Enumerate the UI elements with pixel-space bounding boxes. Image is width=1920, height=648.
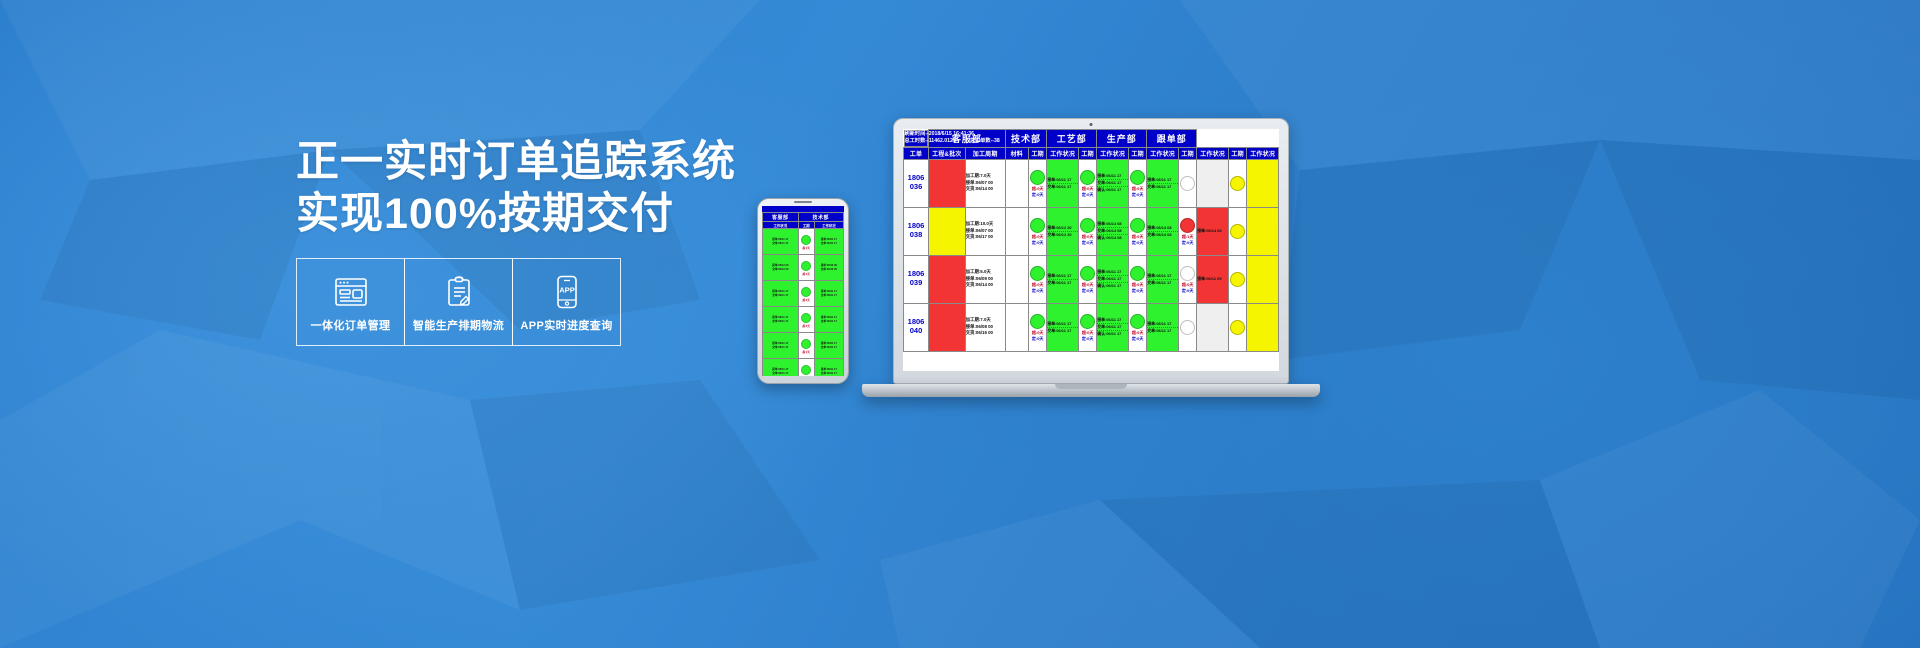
period-line-0: 加工期:5.0天	[966, 269, 1005, 276]
phone-table-body: 接单:06/11 17交单:06/11 17超:0天接单:06/11 17交单:…	[763, 229, 844, 377]
status-event-1: 交单:06/11 17	[1047, 184, 1078, 190]
dept-0-duration-cell[interactable]: 超:0天定:0天	[1028, 303, 1046, 351]
processing-period: 加工期:10.0天接单:06/07 00交货:06/17 00	[965, 207, 1005, 255]
dept-2-duration-cell[interactable]: 超:0天定:0天	[1128, 159, 1146, 207]
phone-table-row[interactable]: 接单:06/11 17交单:06/11 17超:0天接单:06/11 17交单:…	[763, 333, 844, 359]
status-dot-icon	[1180, 176, 1195, 191]
phone-status-event-1: 交单:06/11 17	[763, 346, 798, 350]
work-order-suffix: 038	[904, 231, 928, 240]
status-event-1: 交单:06/11 17	[1097, 276, 1128, 283]
status-dot-icon	[1030, 314, 1045, 329]
dept-header-process: 工艺部	[1047, 130, 1097, 148]
hero-copy: 正一实时订单追踪系统 实现100%按期交付	[296, 136, 756, 241]
dashboard-table: 刷新时间--2018/6/15 16:41:36 总工时数--11462.012…	[903, 129, 1279, 352]
order-tracking-dashboard: 刷新时间--2018/6/15 16:41:36 总工时数--11462.012…	[903, 129, 1279, 371]
dept-4-work-status-cell[interactable]	[1247, 255, 1279, 303]
phone-work-status-cell[interactable]: 接单:06/11 17交单:06/11 17	[763, 281, 799, 307]
feature-label-production-logistics: 智能生产排期物流	[413, 317, 504, 333]
dept-3-duration-cell[interactable]: 超:1天定:0天	[1178, 207, 1196, 255]
phone-status-event2-1: 交单:06/12 20	[815, 268, 843, 272]
material-swatch	[1005, 255, 1028, 303]
status-dot-icon	[1130, 266, 1145, 281]
dept-header-merchandising: 跟单部	[1147, 130, 1197, 148]
status-event-0: 接单:06/14 08	[1097, 221, 1128, 228]
dept-0-work-status-cell[interactable]: 接单:06/11 17交单:06/11 17	[1047, 255, 1079, 303]
col-header-d3-work-status: 工作状况	[1197, 147, 1229, 159]
status-event-0: 接单:06/12 20	[1047, 225, 1078, 232]
dept-2-work-status-cell[interactable]: 接单:06/11 17交单:06/11 17	[1147, 255, 1179, 303]
dashboard-table-body: 1806036加工期:7.0天接单:06/07 00交货:06/14 00超:0…	[904, 159, 1279, 351]
phone-duration-cell[interactable]: 超:0天	[798, 333, 814, 359]
phone-status-event-1: 交单:06/11 17	[763, 372, 798, 376]
dept-4-work-status-cell[interactable]	[1247, 303, 1279, 351]
phone-col-duration: 工期	[798, 222, 814, 229]
status-dot-icon	[1180, 266, 1195, 281]
phone-status-dot-icon	[801, 235, 811, 245]
period-line-0: 加工期:7.0天	[966, 317, 1005, 324]
phone-work-status-cell[interactable]: 接单:06/11 17交单:06/11 17	[763, 333, 799, 359]
processing-period: 加工期:7.0天接单:06/07 00交货:06/14 00	[965, 159, 1005, 207]
dept-4-work-status-cell[interactable]	[1247, 207, 1279, 255]
phone-duration-cell[interactable]: 超:0天	[798, 229, 814, 255]
material-swatch	[1005, 303, 1028, 351]
phone-table-row[interactable]: 接单:06/11 17交单:06/11 17超:0天接单:06/11 17交单:…	[763, 307, 844, 333]
dept-2-duration-cell[interactable]: 超:0天定:0天	[1128, 255, 1146, 303]
work-order-suffix: 039	[904, 279, 928, 288]
dept-0-duration-cell[interactable]: 超:0天定:0天	[1028, 159, 1046, 207]
dept-1-work-status-cell[interactable]: 接单:06/11 17交单:06/11 17确认:06/11 17	[1097, 255, 1129, 303]
status-event-0: 接单:06/12 09	[1197, 276, 1228, 282]
table-row[interactable]: 1806038加工期:10.0天接单:06/07 00交货:06/17 00超:…	[904, 207, 1279, 255]
table-row[interactable]: 1806040加工期:7.0天接单:06/08 00交货:06/15 00超:0…	[904, 303, 1279, 351]
phone-dashboard: 客服部 技术部 工作状况 工期 工作状况 接单:06/11 17交单:06/11…	[762, 206, 844, 376]
dept-4-work-status-cell[interactable]	[1247, 159, 1279, 207]
phone-overdue-tag: 超:0天	[799, 272, 814, 276]
col-header-d2-duration: 工期	[1128, 147, 1146, 159]
laptop-camera	[1090, 123, 1093, 126]
laptop-trackpad-notch	[1055, 384, 1127, 389]
dept-2-work-status-cell[interactable]: 接单:06/11 17交单:06/11 17	[1147, 303, 1179, 351]
dept-3-work-status-cell[interactable]: 接单:06/14 08	[1197, 207, 1229, 255]
col-header-d3-duration: 工期	[1178, 147, 1196, 159]
dept-0-work-status-cell[interactable]: 接单:06/12 20交单:06/12 20	[1047, 207, 1079, 255]
phone-work-status-cell-2[interactable]: 接单:06/12 20交单:06/12 20	[814, 255, 843, 281]
period-line-0: 加工期:7.0天	[966, 173, 1005, 180]
dept-0-duration-cell[interactable]: 超:0天定:0天	[1028, 207, 1046, 255]
phone-dept-header-row: 客服部 技术部	[763, 213, 844, 222]
phone-screen: 客服部 技术部 工作状况 工期 工作状况 接单:06/11 17交单:06/11…	[762, 206, 844, 376]
status-event-2: 确认:06/14 08	[1097, 235, 1128, 241]
dept-1-duration-cell[interactable]: 超:0天定:0天	[1078, 303, 1096, 351]
phone-overdue-tag: 超:0天	[799, 376, 814, 377]
dept-1-work-status-cell[interactable]: 接单:06/11 17交单:06/11 17确认:06/11 17	[1097, 159, 1129, 207]
phone-work-status-cell-2[interactable]: 接单:06/11 17交单:06/11 17	[814, 359, 843, 377]
phone-col-work-status-1: 工作状况	[763, 222, 799, 229]
phone-table-row[interactable]: 接单:06/12 20交单:06/12 20超:0天接单:06/12 20交单:…	[763, 255, 844, 281]
phone-status-event2-1: 交单:06/11 17	[815, 372, 843, 376]
feature-box-app-progress[interactable]: APP APP实时进度查询	[512, 258, 621, 346]
status-event-1: 交单:06/14 08	[1147, 232, 1178, 238]
status-event-2: 确认:06/11 17	[1097, 283, 1128, 289]
phone-status-event-1: 交单:06/11 17	[763, 294, 798, 298]
total-hours-label: 总工时数--11462.0125	[905, 138, 956, 146]
dept-3-duration-cell[interactable]: 超:0天定:0天	[1178, 255, 1196, 303]
phone-work-status-cell[interactable]: 接单:06/12 20交单:06/12 20	[763, 255, 799, 281]
phone-work-status-cell-2[interactable]: 接单:06/11 17交单:06/11 17	[814, 307, 843, 333]
scheduled-tag: 定:0天	[1029, 240, 1046, 246]
phone-status-event-1: 交单:06/12 20	[763, 268, 798, 272]
dept-4-duration-cell[interactable]	[1228, 255, 1246, 303]
status-dot-icon	[1080, 266, 1095, 281]
phone-work-status-cell[interactable]: 接单:06/11 17交单:06/11 17	[763, 359, 799, 377]
phone-table-row[interactable]: 接单:06/11 17交单:06/11 17超:0天接单:06/11 17交单:…	[763, 229, 844, 255]
processing-period: 加工期:7.0天接单:06/08 00交货:06/15 00	[965, 303, 1005, 351]
status-dot-icon	[1180, 320, 1195, 335]
feature-box-order-management[interactable]: 一体化订单管理	[296, 258, 405, 346]
phone-status-event-1: 交单:06/11 17	[763, 242, 798, 246]
status-event-0: 接单:06/11 17	[1047, 177, 1078, 184]
status-event-2: 确认:06/11 17	[1097, 187, 1128, 193]
phone-status-event2-1: 交单:06/11 17	[815, 294, 843, 298]
dashboard-meta-block: 刷新时间--2018/6/15 16:41:36 总工时数--11462.012…	[904, 130, 929, 147]
phone-overdue-tag: 超:0天	[799, 298, 814, 302]
dept-4-duration-cell[interactable]	[1228, 303, 1246, 351]
work-order-suffix: 036	[904, 183, 928, 192]
headline-line-1: 正一实时订单追踪系统	[296, 136, 756, 188]
project-batch-swatch	[929, 255, 966, 303]
dept-4-duration-cell[interactable]	[1228, 159, 1246, 207]
material-swatch	[1005, 207, 1028, 255]
dept-3-work-status-cell[interactable]	[1197, 303, 1229, 351]
status-dot-icon	[1130, 170, 1145, 185]
smartphone-app-icon: APP	[554, 272, 580, 312]
phone-overdue-tag: 超:0天	[799, 350, 814, 354]
dept-1-work-status-cell[interactable]: 接单:06/11 17交单:06/11 17确认:06/11 17	[1097, 303, 1129, 351]
phone-mockup: 客服部 技术部 工作状况 工期 工作状况 接单:06/11 17交单:06/11…	[757, 198, 849, 384]
phone-table-row[interactable]: 接单:06/11 17交单:06/11 17超:0天接单:06/11 17交单:…	[763, 359, 844, 377]
status-event-1: 交单:06/11 17	[1097, 324, 1128, 331]
laptop-base	[862, 384, 1320, 397]
dept-3-duration-cell[interactable]	[1178, 159, 1196, 207]
scheduled-tag: 定:0天	[1029, 192, 1046, 198]
scheduled-tag: 定:0天	[1179, 240, 1196, 246]
status-event-1: 交单:06/11 17	[1047, 328, 1078, 334]
status-dot-icon	[1130, 314, 1145, 329]
dept-0-work-status-cell[interactable]: 接单:06/11 17交单:06/11 17	[1047, 159, 1079, 207]
phone-status-event2-1: 交单:06/11 17	[815, 320, 843, 324]
col-header-d4-work-status: 工作状况	[1247, 147, 1279, 159]
status-dot-icon	[1230, 320, 1245, 335]
status-event-1: 交单:06/14 08	[1097, 228, 1128, 235]
scheduled-tag: 定:0天	[1029, 288, 1046, 294]
status-event-1: 交单:06/12 20	[1047, 232, 1078, 238]
dept-header-production: 生产部	[1097, 130, 1147, 148]
feature-box-production-logistics[interactable]: 智能生产排期物流	[404, 258, 513, 346]
phone-duration-cell[interactable]: 超:0天	[798, 307, 814, 333]
project-batch-swatch	[929, 303, 966, 351]
dept-2-duration-cell[interactable]: 超:0天定:0天	[1128, 303, 1146, 351]
status-dot-icon	[1080, 218, 1095, 233]
period-line-2: 交货:06/14 00	[966, 186, 1005, 193]
phone-status-dot-icon	[801, 287, 811, 297]
status-dot-icon	[1030, 218, 1045, 233]
clipboard-pen-icon	[444, 272, 474, 312]
phone-overdue-tag: 超:0天	[799, 246, 814, 250]
browser-window-icon	[334, 272, 368, 312]
status-dot-icon	[1230, 224, 1245, 239]
phone-work-status-cell-2[interactable]: 接单:06/11 17交单:06/11 17	[814, 229, 843, 255]
status-dot-icon	[1080, 170, 1095, 185]
phone-status-event2-1: 交单:06/11 17	[815, 346, 843, 350]
scheduled-tag: 定:0天	[1129, 288, 1146, 294]
scheduled-tag: 定:0天	[1079, 192, 1096, 198]
dept-1-duration-cell[interactable]: 超:0天定:0天	[1078, 159, 1096, 207]
phone-status-event-1: 交单:06/11 17	[763, 320, 798, 324]
status-event-0: 接单:06/11 17	[1147, 273, 1178, 280]
work-order-number: 1806040	[904, 303, 929, 351]
col-header-d0-work-status: 工作状况	[1047, 147, 1079, 159]
project-batch-swatch	[929, 207, 966, 255]
project-batch-swatch	[929, 159, 966, 207]
phone-col-work-status-2: 工作状况	[814, 222, 843, 229]
status-event-0: 接单:06/11 17	[1147, 321, 1178, 328]
feature-label-app-progress: APP实时进度查询	[520, 317, 612, 333]
work-order-number: 1806039	[904, 255, 929, 303]
col-header-d2-work-status: 工作状况	[1147, 147, 1179, 159]
phone-status-dot-icon	[801, 313, 811, 323]
status-dot-icon	[1230, 176, 1245, 191]
status-event-0: 接单:06/11 17	[1147, 177, 1178, 184]
status-event-0: 接单:06/11 17	[1097, 317, 1128, 324]
status-event-2: 确认:06/11 17	[1097, 331, 1128, 337]
laptop-screen: 刷新时间--2018/6/15 16:41:36 总工时数--11462.012…	[903, 129, 1279, 371]
phone-table-row[interactable]: 接单:06/11 17交单:06/11 17超:0天接单:06/11 17交单:…	[763, 281, 844, 307]
col-header-d4-duration: 工期	[1228, 147, 1246, 159]
period-line-2: 交货:06/15 00	[966, 330, 1005, 337]
phone-status-dot-icon	[801, 261, 811, 271]
status-event-1: 交单:06/11 17	[1147, 328, 1178, 334]
work-order-number: 1806036	[904, 159, 929, 207]
scheduled-tag: 定:0天	[1029, 336, 1046, 342]
laptop-lid: 刷新时间--2018/6/15 16:41:36 总工时数--11462.012…	[893, 118, 1289, 384]
status-event-0: 接单:06/11 17	[1047, 321, 1078, 328]
col-header-base-1: 工程&批次	[929, 147, 966, 159]
col-header-d0-duration: 工期	[1028, 147, 1046, 159]
status-dot-icon	[1030, 266, 1045, 281]
dept-3-duration-cell[interactable]	[1178, 303, 1196, 351]
dept-4-duration-cell[interactable]	[1228, 207, 1246, 255]
phone-work-status-cell-2[interactable]: 接单:06/11 17交单:06/11 17	[814, 281, 843, 307]
col-header-base-2: 加工周期	[965, 147, 1005, 159]
dept-header-technology: 技术部	[1005, 130, 1047, 148]
scheduled-tag: 定:0天	[1179, 288, 1196, 294]
phone-status-event2-1: 交单:06/11 17	[815, 242, 843, 246]
dept-0-duration-cell[interactable]: 超:0天定:0天	[1028, 255, 1046, 303]
phone-work-status-cell[interactable]: 接单:06/11 17交单:06/11 17	[763, 307, 799, 333]
scheduled-tag: 定:0天	[1079, 288, 1096, 294]
work-order-number: 1806038	[904, 207, 929, 255]
status-dot-icon	[1180, 218, 1195, 233]
period-line-2: 交货:06/17 00	[966, 234, 1005, 241]
period-line-2: 交货:06/14 00	[966, 282, 1005, 289]
phone-col-header-row: 工作状况 工期 工作状况	[763, 222, 844, 229]
dept-1-duration-cell[interactable]: 超:0天定:0天	[1078, 255, 1096, 303]
phone-dashboard-table: 客服部 技术部 工作状况 工期 工作状况 接单:06/11 17交单:06/11…	[762, 212, 844, 376]
dept-2-work-status-cell[interactable]: 接单:06/11 17交单:06/11 17	[1147, 159, 1179, 207]
phone-dept-customer-service: 客服部	[763, 213, 799, 222]
status-dot-icon	[1230, 272, 1245, 287]
col-header-base-0: 工单	[904, 147, 929, 159]
scheduled-tag: 定:0天	[1079, 240, 1096, 246]
scheduled-tag: 定:0天	[1079, 336, 1096, 342]
status-event-1: 交单:06/11 17	[1097, 180, 1128, 187]
dept-0-work-status-cell[interactable]: 接单:06/11 17交单:06/11 17	[1047, 303, 1079, 351]
app-icon-text: APP	[559, 285, 575, 294]
col-header-base-3: 材料	[1005, 147, 1028, 159]
status-dot-icon	[1080, 314, 1095, 329]
status-event-0: 接单:06/11 17	[1097, 173, 1128, 180]
phone-dept-technology: 技术部	[798, 213, 843, 222]
status-event-0: 接单:06/11 17	[1097, 269, 1128, 276]
dashboard-column-header-row: 工单工程&批次加工周期材料工期工作状况工期工作状况工期工作状况工期工作状况工期工…	[904, 147, 1279, 159]
phone-status-dot-icon	[801, 365, 811, 375]
processing-period: 加工期:5.0天接单:06/09 00交货:06/14 00	[965, 255, 1005, 303]
dept-3-work-status-cell[interactable]	[1197, 159, 1229, 207]
status-event-0: 接单:06/11 17	[1047, 273, 1078, 280]
dept-2-work-status-cell[interactable]: 接单:06/14 08交单:06/14 08	[1147, 207, 1179, 255]
promo-banner: 正一实时订单追踪系统 实现100%按期交付 一体化订单管理	[0, 0, 1920, 648]
headline-line-2: 实现100%按期交付	[296, 188, 756, 240]
scheduled-tag: 定:0天	[1129, 192, 1146, 198]
status-event-1: 交单:06/11 17	[1147, 280, 1178, 286]
feature-box-list: 一体化订单管理 智能生产排期物流	[296, 258, 621, 346]
work-order-suffix: 040	[904, 327, 928, 336]
phone-speaker	[794, 201, 812, 203]
status-event-1: 交单:06/11 17	[1047, 280, 1078, 286]
table-row[interactable]: 1806039加工期:5.0天接单:06/09 00交货:06/14 00超:0…	[904, 255, 1279, 303]
status-event-0: 接单:06/14 08	[1197, 228, 1228, 234]
phone-work-status-cell[interactable]: 接单:06/11 17交单:06/11 17	[763, 229, 799, 255]
col-header-d1-duration: 工期	[1078, 147, 1096, 159]
scheduled-tag: 定:0天	[1129, 336, 1146, 342]
feature-label-order-management: 一体化订单管理	[311, 317, 391, 333]
status-dot-icon	[1030, 170, 1045, 185]
status-event-0: 接单:06/14 08	[1147, 225, 1178, 232]
dashboard-meta-row: 刷新时间--2018/6/15 16:41:36 总工时数--11462.012…	[904, 130, 1279, 148]
period-line-0: 加工期:10.0天	[966, 221, 1005, 228]
phone-duration-cell[interactable]: 超:0天	[798, 255, 814, 281]
col-header-d1-work-status: 工作状况	[1097, 147, 1129, 159]
status-event-1: 交单:06/11 17	[1147, 184, 1178, 190]
laptop-mockup: 刷新时间--2018/6/15 16:41:36 总工时数--11462.012…	[862, 118, 1320, 397]
phone-overdue-tag: 超:0天	[799, 324, 814, 328]
status-dot-icon	[1130, 218, 1145, 233]
phone-work-status-cell-2[interactable]: 接单:06/11 17交单:06/11 17	[814, 333, 843, 359]
dept-1-work-status-cell[interactable]: 接单:06/14 08交单:06/14 08确认:06/14 08	[1097, 207, 1129, 255]
dept-1-duration-cell[interactable]: 超:0天定:0天	[1078, 207, 1096, 255]
scheduled-tag: 定:0天	[1129, 240, 1146, 246]
material-swatch	[1005, 159, 1028, 207]
table-row[interactable]: 1806036加工期:7.0天接单:06/07 00交货:06/14 00超:0…	[904, 159, 1279, 207]
phone-duration-cell[interactable]: 超:0天	[798, 359, 814, 377]
dept-3-work-status-cell[interactable]: 接单:06/12 09	[1197, 255, 1229, 303]
dept-2-duration-cell[interactable]: 超:0天定:0天	[1128, 207, 1146, 255]
phone-duration-cell[interactable]: 超:0天	[798, 281, 814, 307]
phone-status-dot-icon	[801, 339, 811, 349]
